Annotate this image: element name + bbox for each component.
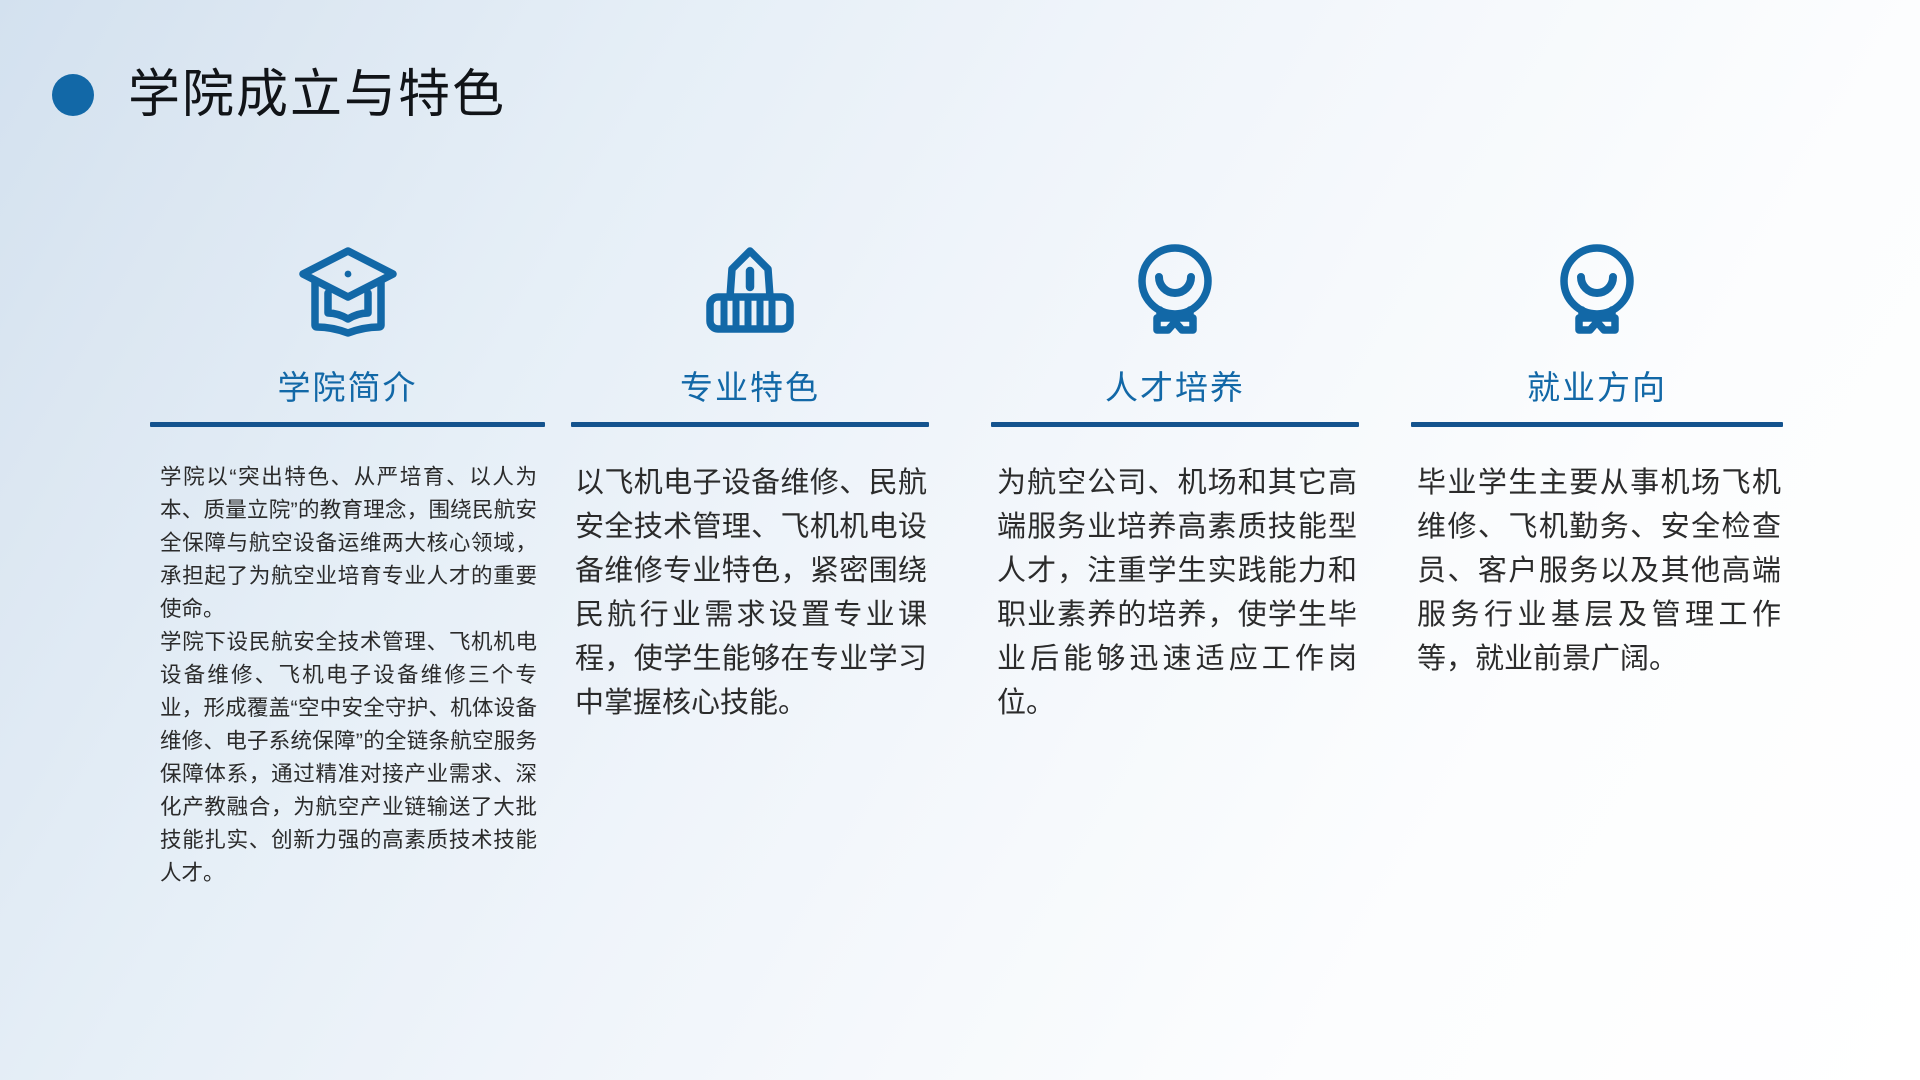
feature-columns: 学院简介 学院以“突出特色、从严培育、以人为本、质量立院”的教育理念，围绕民航安… <box>150 230 1790 890</box>
heading-rule-3 <box>991 422 1359 427</box>
feature-heading-4: 就业方向 <box>1411 348 1783 422</box>
feature-body-3: 为航空公司、机场和其它高端服务业培养高素质技能型人才，注重学生实践能力和职业素养… <box>991 461 1359 725</box>
feature-heading-1: 学院简介 <box>150 348 545 422</box>
feature-body-2: 以飞机电子设备维修、民航安全技术管理、飞机机电设备维修专业特色，紧密围绕民航行业… <box>571 461 929 725</box>
feature-column-1: 学院简介 学院以“突出特色、从严培育、以人为本、质量立院”的教育理念，围绕民航安… <box>150 230 545 890</box>
feature-column-3: 人才培养 为航空公司、机场和其它高端服务业培养高素质技能型人才，注重学生实践能力… <box>991 230 1359 725</box>
lightbulb-idea-icon <box>1411 230 1783 348</box>
heading-rule-2 <box>571 422 929 427</box>
page-title: 学院成立与特色 <box>128 68 506 123</box>
heading-rule-1 <box>150 422 545 427</box>
feature-column-4: 就业方向 毕业学生主要从事机场飞机维修、飞机勤务、安全检查员、客户服务以及其他高… <box>1411 230 1783 681</box>
feature-body-1: 学院以“突出特色、从严培育、以人为本、质量立院”的教育理念，围绕民航安全保障与航… <box>150 461 545 890</box>
graduation-cap-icon <box>150 230 545 348</box>
monument-building-icon <box>571 230 929 348</box>
feature-body-4: 毕业学生主要从事机场飞机维修、飞机勤务、安全检查员、客户服务以及其他高端服务行业… <box>1411 461 1783 681</box>
lightbulb-idea-icon <box>991 230 1359 348</box>
slide-canvas: 学院成立与特色 学院简介 学院以“突出特色、从严培育、以人为本、质量立院”的教育… <box>0 0 1920 1080</box>
feature-column-2: 专业特色 以飞机电子设备维修、民航安全技术管理、飞机机电设备维修专业特色，紧密围… <box>571 230 929 725</box>
feature-heading-3: 人才培养 <box>991 348 1359 422</box>
filled-circle-icon <box>52 74 94 116</box>
slide-title-row: 学院成立与特色 <box>52 62 506 128</box>
feature-heading-2: 专业特色 <box>571 348 929 422</box>
heading-rule-4 <box>1411 422 1783 427</box>
